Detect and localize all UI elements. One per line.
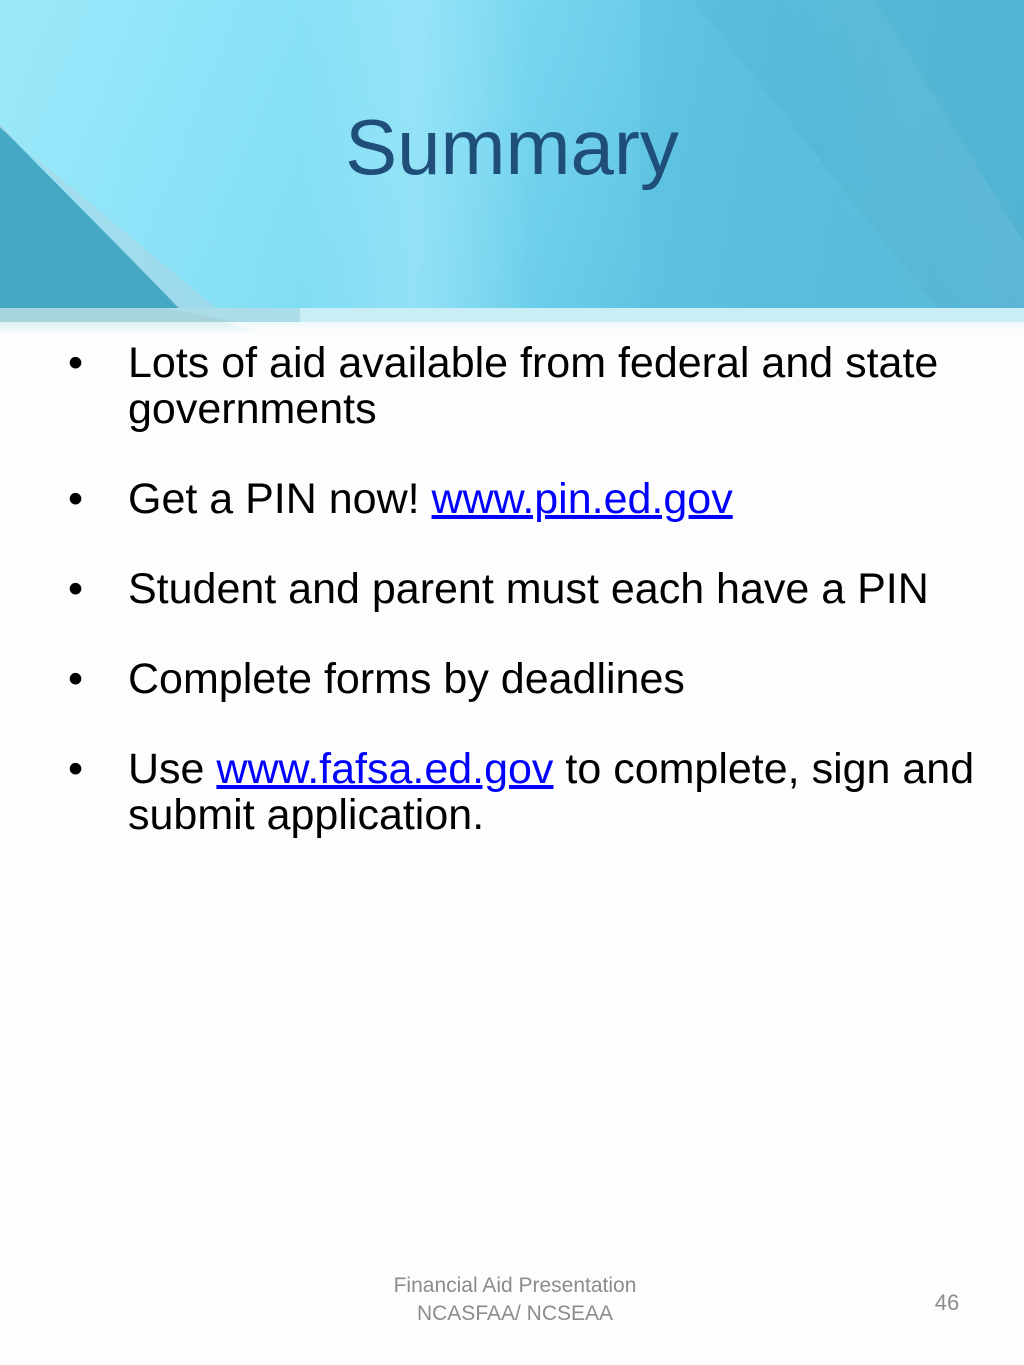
- bullet-dot-icon: •: [68, 476, 83, 522]
- list-item: • Lots of aid available from federal and…: [0, 340, 1024, 432]
- hyperlink-pin-ed-gov[interactable]: www.pin.ed.gov: [432, 475, 733, 523]
- header-divider-band-light: [300, 308, 1024, 322]
- list-item: • Get a PIN now! www.pin.ed.gov: [0, 476, 1024, 522]
- hyperlink-fafsa-ed-gov[interactable]: www.fafsa.ed.gov: [216, 745, 553, 793]
- list-item: • Student and parent must each have a PI…: [0, 566, 1024, 612]
- bullet-text: Complete forms by deadlines: [128, 655, 685, 703]
- bullet-dot-icon: •: [68, 656, 83, 702]
- slide-footer: Financial Aid Presentation NCASFAA/ NCSE…: [0, 1272, 1024, 1327]
- page-title: Summary: [0, 108, 1024, 186]
- presentation-slide: Summary • Lots of aid available from fed…: [0, 0, 1024, 1365]
- bullet-dot-icon: •: [68, 566, 83, 612]
- bullet-text: Lots of aid available from federal and s…: [128, 339, 938, 433]
- footer-line-2: NCASFAA/ NCSEAA: [0, 1300, 1024, 1328]
- bullet-text: Use: [128, 745, 216, 793]
- footer-line-1: Financial Aid Presentation: [0, 1272, 1024, 1300]
- bullet-text: Student and parent must each have a PIN: [128, 565, 929, 613]
- bullet-list: • Lots of aid available from federal and…: [0, 340, 1024, 838]
- bullet-text: Get a PIN now!: [128, 475, 432, 523]
- bullet-dot-icon: •: [68, 340, 83, 386]
- bullet-dot-icon: •: [68, 746, 83, 792]
- list-item: • Use www.fafsa.ed.gov to complete, sign…: [0, 746, 1024, 838]
- slide-body: • Lots of aid available from federal and…: [0, 340, 1024, 1240]
- list-item: • Complete forms by deadlines: [0, 656, 1024, 702]
- page-number: 46: [922, 1290, 972, 1316]
